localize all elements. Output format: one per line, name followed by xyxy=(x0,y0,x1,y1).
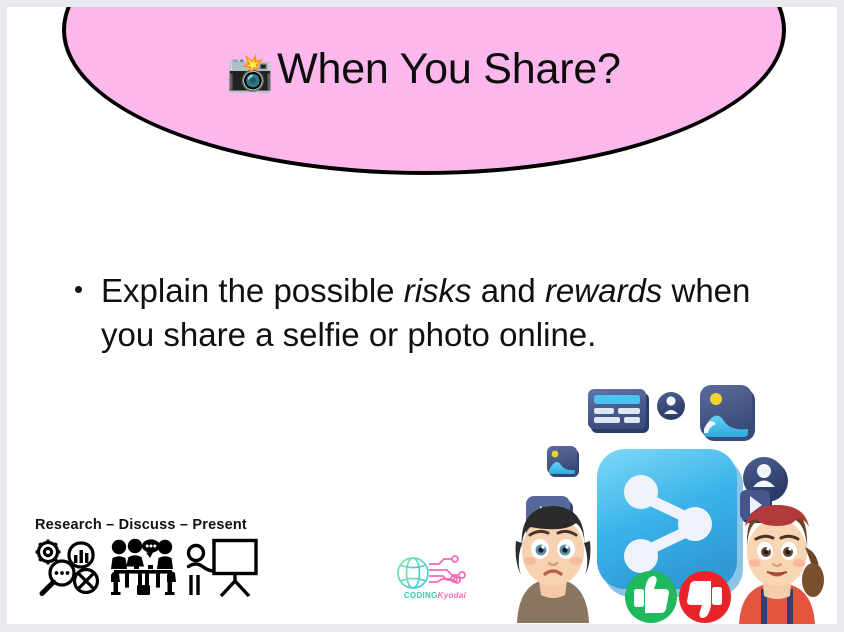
thumbs-down-icon xyxy=(679,571,731,623)
bullet-list-item: Explain the possible risks and rewards w… xyxy=(67,269,767,357)
image-icon-small xyxy=(547,446,579,477)
image-icon-large xyxy=(700,385,755,441)
bullet-segment-2: and xyxy=(472,272,545,309)
camera-with-flash-icon: 📸 xyxy=(227,52,273,93)
bullet-dot-icon xyxy=(75,286,82,293)
coding-globe-logo: CODINGKyodai xyxy=(389,555,481,607)
share-artwork-cluster xyxy=(499,375,837,624)
user-avatar-icon-small xyxy=(657,392,685,420)
bullet-segment-risks: risks xyxy=(404,272,472,309)
thumbs-up-icon xyxy=(625,571,677,623)
slide-canvas: 📸When You Share? Explain the possible ri… xyxy=(7,7,837,624)
globe-circuit-icon xyxy=(389,555,481,593)
research-icon xyxy=(29,537,101,599)
logo-wordmark: CODINGKyodai xyxy=(389,591,481,600)
page-title: 📸When You Share? xyxy=(62,47,786,93)
page-title-text: When You Share? xyxy=(277,45,621,93)
bullet-segment-rewards: rewards xyxy=(545,272,662,309)
activity-icon-row xyxy=(29,537,279,599)
bullet-segment-1: Explain the possible xyxy=(101,272,404,309)
share-cube-3d xyxy=(597,449,743,597)
activity-caption: Research – Discuss – Present xyxy=(35,517,279,533)
post-card-icon xyxy=(588,389,649,433)
logo-word-main: CODING xyxy=(404,591,438,600)
happy-girl-illustration xyxy=(739,505,824,624)
logo-word-sub: Kyodai xyxy=(438,591,466,600)
share-artwork-svg xyxy=(499,375,837,624)
activity-footer: Research – Discuss – Present xyxy=(29,517,279,599)
sad-girl-illustration xyxy=(516,506,591,623)
body-content: Explain the possible risks and rewards w… xyxy=(67,269,767,357)
slide-frame: 📸When You Share? Explain the possible ri… xyxy=(0,0,844,632)
present-icon xyxy=(185,537,259,599)
discuss-icon xyxy=(110,537,176,599)
